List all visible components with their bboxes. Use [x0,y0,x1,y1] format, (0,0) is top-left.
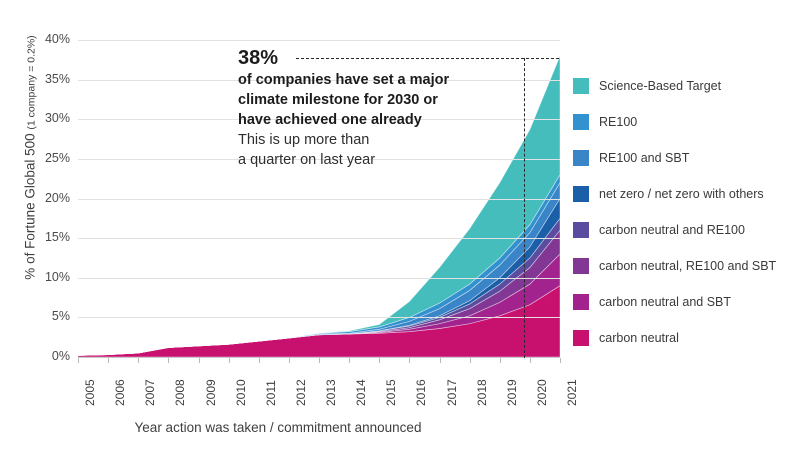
y-axis-tick-label: 5% [12,309,70,323]
x-axis-tick-label: 2010 [234,379,248,406]
x-axis-tick [168,358,169,363]
y-axis-title: % of Fortune Global 500 (1 company = 0.2… [23,0,38,348]
x-axis-tick-label: 2007 [143,379,157,406]
legend-item-label: carbon neutral and SBT [599,294,731,310]
x-axis-tick [108,358,109,363]
annotation-headline: 38% [238,46,538,70]
x-axis-tick [500,358,501,363]
x-axis-tick [289,358,290,363]
x-axis-title: Year action was taken / commitment annou… [78,420,478,435]
gridline [78,238,560,239]
legend-swatch-icon [573,258,589,274]
x-axis-tick [530,358,531,363]
x-axis-tick-label: 2009 [204,379,218,406]
annotation-line-5: a quarter on last year [238,150,538,170]
gridline [78,317,560,318]
legend-swatch-icon [573,330,589,346]
legend-item-label: RE100 [599,114,637,130]
x-axis-tick [349,358,350,363]
legend-item-label: RE100 and SBT [599,150,689,166]
legend-item-label: carbon neutral, RE100 and SBT [599,258,776,274]
legend-swatch-icon [573,150,589,166]
legend-item-label: carbon neutral and RE100 [599,222,745,238]
legend-swatch-icon [573,186,589,202]
stacked-area-chart: % of Fortune Global 500 (1 company = 0.2… [0,0,800,460]
x-axis-tick-label: 2011 [264,380,278,406]
x-axis-tick-label: 2008 [173,379,187,406]
x-axis-tick [259,358,260,363]
legend-swatch-icon [573,222,589,238]
x-axis-tick [440,358,441,363]
x-axis-tick-label: 2021 [565,379,579,406]
y-axis-tick-label: 15% [12,230,70,244]
y-axis-tick-label: 35% [12,72,70,86]
gridline [78,199,560,200]
x-axis-tick-label: 2014 [354,379,368,406]
x-axis-tick-label: 2006 [113,379,127,406]
gridline [78,278,560,279]
legend-item-label: net zero / net zero with others [599,186,764,202]
gridline [78,40,560,41]
x-axis-tick [229,358,230,363]
legend-swatch-icon [573,294,589,310]
x-axis-tick-label: 2017 [445,379,459,406]
x-axis-tick-label: 2018 [475,379,489,406]
legend-swatch-icon [573,78,589,94]
legend-item-label: Science-Based Target [599,78,721,94]
x-axis-tick [78,358,79,363]
x-axis-tick-label: 2015 [384,379,398,406]
x-axis-tick-label: 2013 [324,379,338,406]
annotation-line-3: have achieved one already [238,110,538,130]
x-axis-tick [560,358,561,363]
x-axis-tick [319,358,320,363]
x-axis-tick [138,358,139,363]
y-axis-tick-label: 20% [12,191,70,205]
legend-swatch-icon [573,114,589,130]
x-axis-tick-label: 2016 [414,379,428,406]
y-axis-tick-label: 30% [12,111,70,125]
x-axis-tick-label: 2020 [535,379,549,406]
x-axis-tick-label: 2019 [505,379,519,406]
x-axis-tick [199,358,200,363]
annotation-line-1: of companies have set a major [238,70,538,90]
annotation-line-2: climate milestone for 2030 or [238,90,538,110]
y-axis-tick-label: 40% [12,32,70,46]
annotation-callout: 38% of companies have set a major climat… [238,46,538,170]
y-axis-tick-label: 0% [12,349,70,363]
annotation-line-4: This is up more than [238,130,538,150]
x-axis-tick-label: 2005 [83,379,97,406]
x-axis-tick [379,358,380,363]
x-axis-tick-label: 2012 [294,379,308,406]
y-axis-tick-label: 25% [12,151,70,165]
legend-item-label: carbon neutral [599,330,679,346]
x-axis-tick [409,358,410,363]
x-axis-tick [470,358,471,363]
y-axis-tick-label: 10% [12,270,70,284]
